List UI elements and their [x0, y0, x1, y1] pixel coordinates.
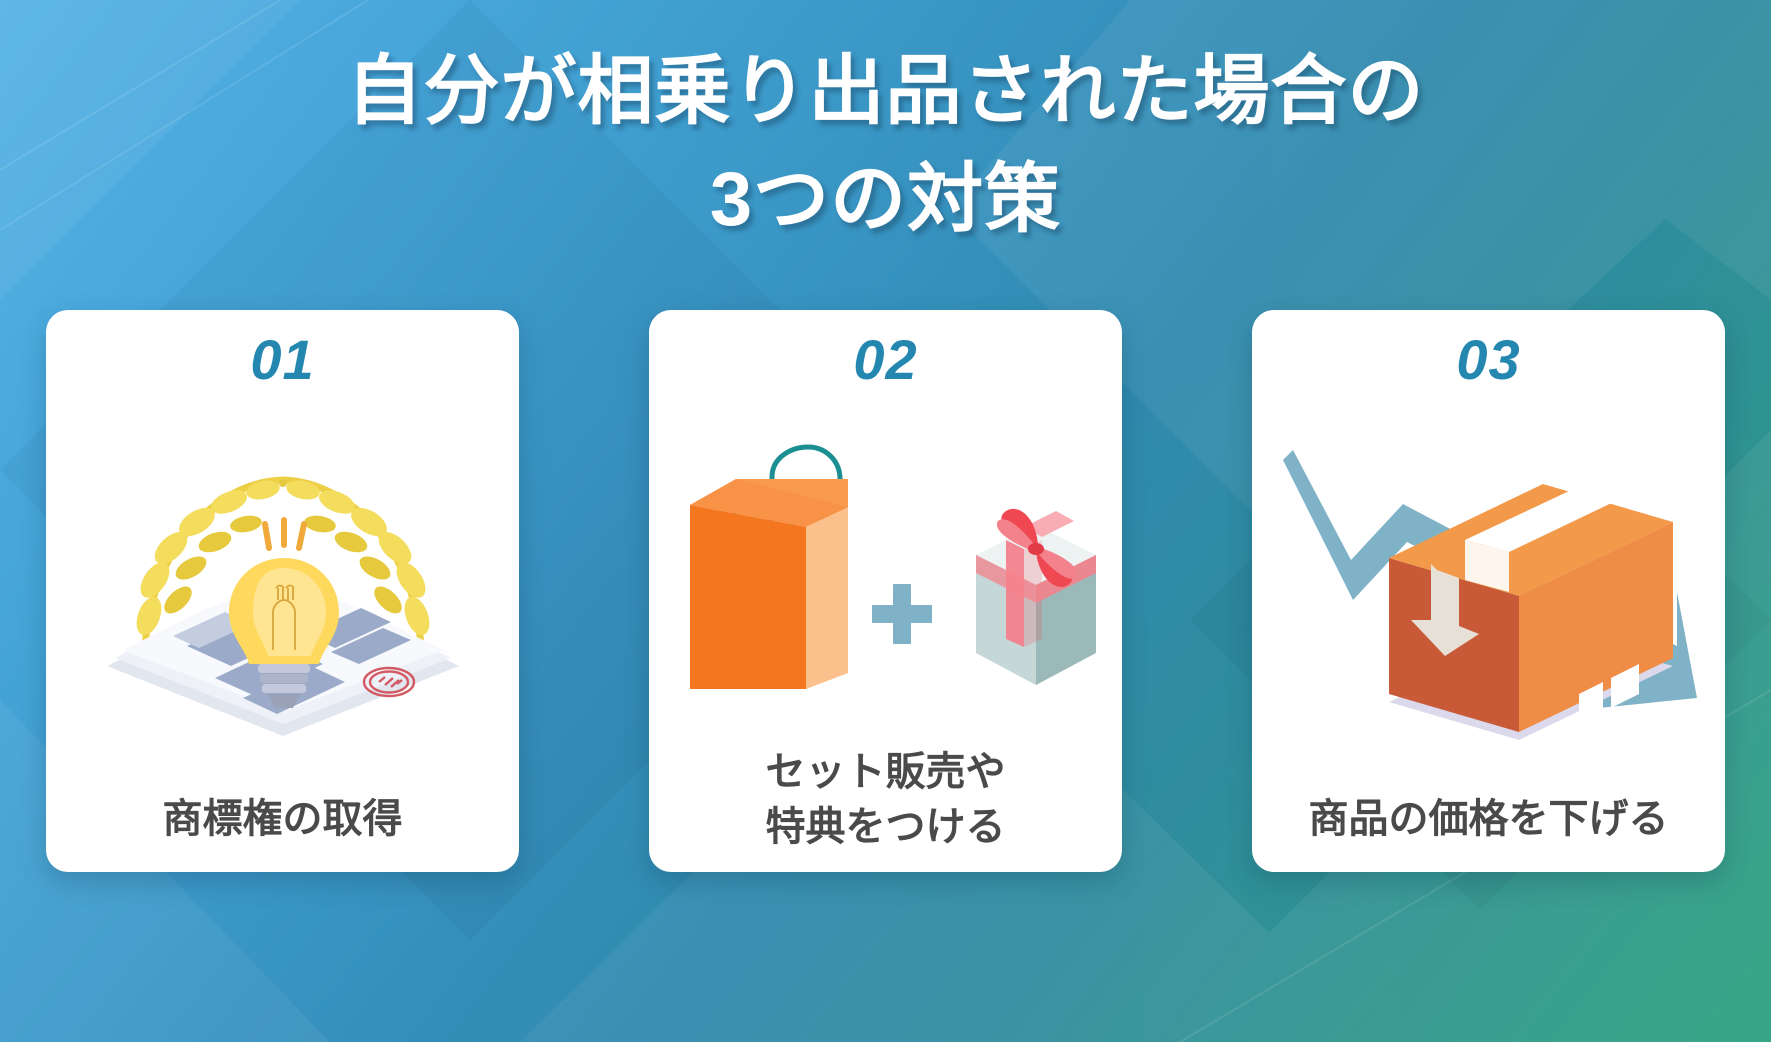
- shopping-bag-plus-gift-icon: [676, 427, 1096, 707]
- slide-root: 自分が相乗り出品された場合の 3つの対策 01: [0, 0, 1771, 1042]
- price-drop-box-arrow-icon: [1279, 440, 1699, 740]
- card-label-02: セット販売や 特典をつける: [756, 745, 1016, 872]
- card-01[interactable]: 01: [46, 310, 519, 872]
- card-number-02: 02: [853, 332, 917, 388]
- card-03[interactable]: 03: [1252, 310, 1725, 872]
- card-list: 01: [46, 310, 1725, 872]
- gift-box-icon: [976, 509, 1096, 685]
- card-label-01: 商標権の取得: [153, 792, 413, 872]
- title-line-2: 3つの対策: [0, 146, 1771, 254]
- card-number-03: 03: [1456, 332, 1520, 388]
- trademark-certificate-lightbulb-icon: [83, 440, 483, 740]
- shopping-bag-icon: [690, 447, 848, 689]
- card-02[interactable]: 02: [649, 310, 1122, 872]
- card-art-03: [1252, 388, 1725, 792]
- title-line-1: 自分が相乗り出品された場合の: [0, 38, 1771, 146]
- card-label-03: 商品の価格を下げる: [1299, 792, 1679, 872]
- card-art-02: [649, 388, 1122, 745]
- card-number-01: 01: [250, 332, 314, 388]
- card-art-01: [46, 388, 519, 792]
- plus-icon: [872, 584, 932, 644]
- page-title: 自分が相乗り出品された場合の 3つの対策: [0, 38, 1771, 254]
